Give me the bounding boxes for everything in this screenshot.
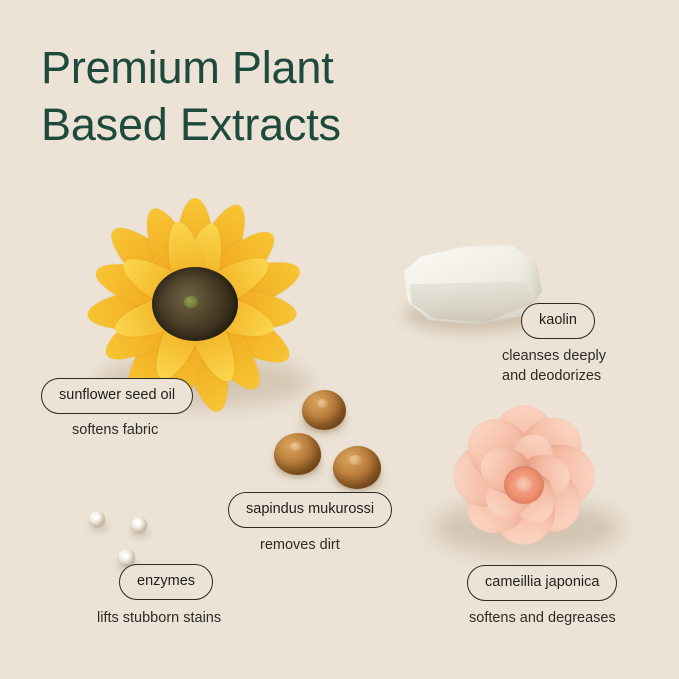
soap-berry	[274, 433, 321, 475]
page-title: Premium Plant Based Extracts	[41, 40, 601, 153]
caption-kaolin: cleanses deeply and deodorizes	[502, 346, 606, 386]
sunflower-seed-head	[152, 267, 238, 341]
caption-sunflower-seed-oil: softens fabric	[72, 420, 158, 440]
pill-cameillia-japonica[interactable]: cameillia japonica	[467, 565, 617, 601]
caption-cameillia-japonica: softens and degreases	[469, 608, 616, 628]
camellia-flower-photo	[431, 411, 617, 563]
kaolin-clay-photo	[398, 243, 542, 327]
product-ingredients-infographic: Premium Plant Based Extracts sunflower s…	[0, 0, 679, 679]
enzyme-bead	[131, 517, 147, 533]
enzyme-bead	[89, 511, 105, 527]
camellia-center	[504, 466, 544, 504]
caption-sapindus-mukurossi: removes dirt	[260, 535, 340, 555]
pill-enzymes[interactable]: enzymes	[119, 564, 213, 600]
caption-enzymes: lifts stubborn stains	[97, 608, 221, 628]
soap-berry	[302, 390, 346, 430]
pill-kaolin[interactable]: kaolin	[521, 303, 595, 339]
pill-sapindus-mukurossi[interactable]: sapindus mukurossi	[228, 492, 392, 528]
pill-sunflower-seed-oil[interactable]: sunflower seed oil	[41, 378, 193, 414]
soap-berry	[333, 446, 381, 489]
